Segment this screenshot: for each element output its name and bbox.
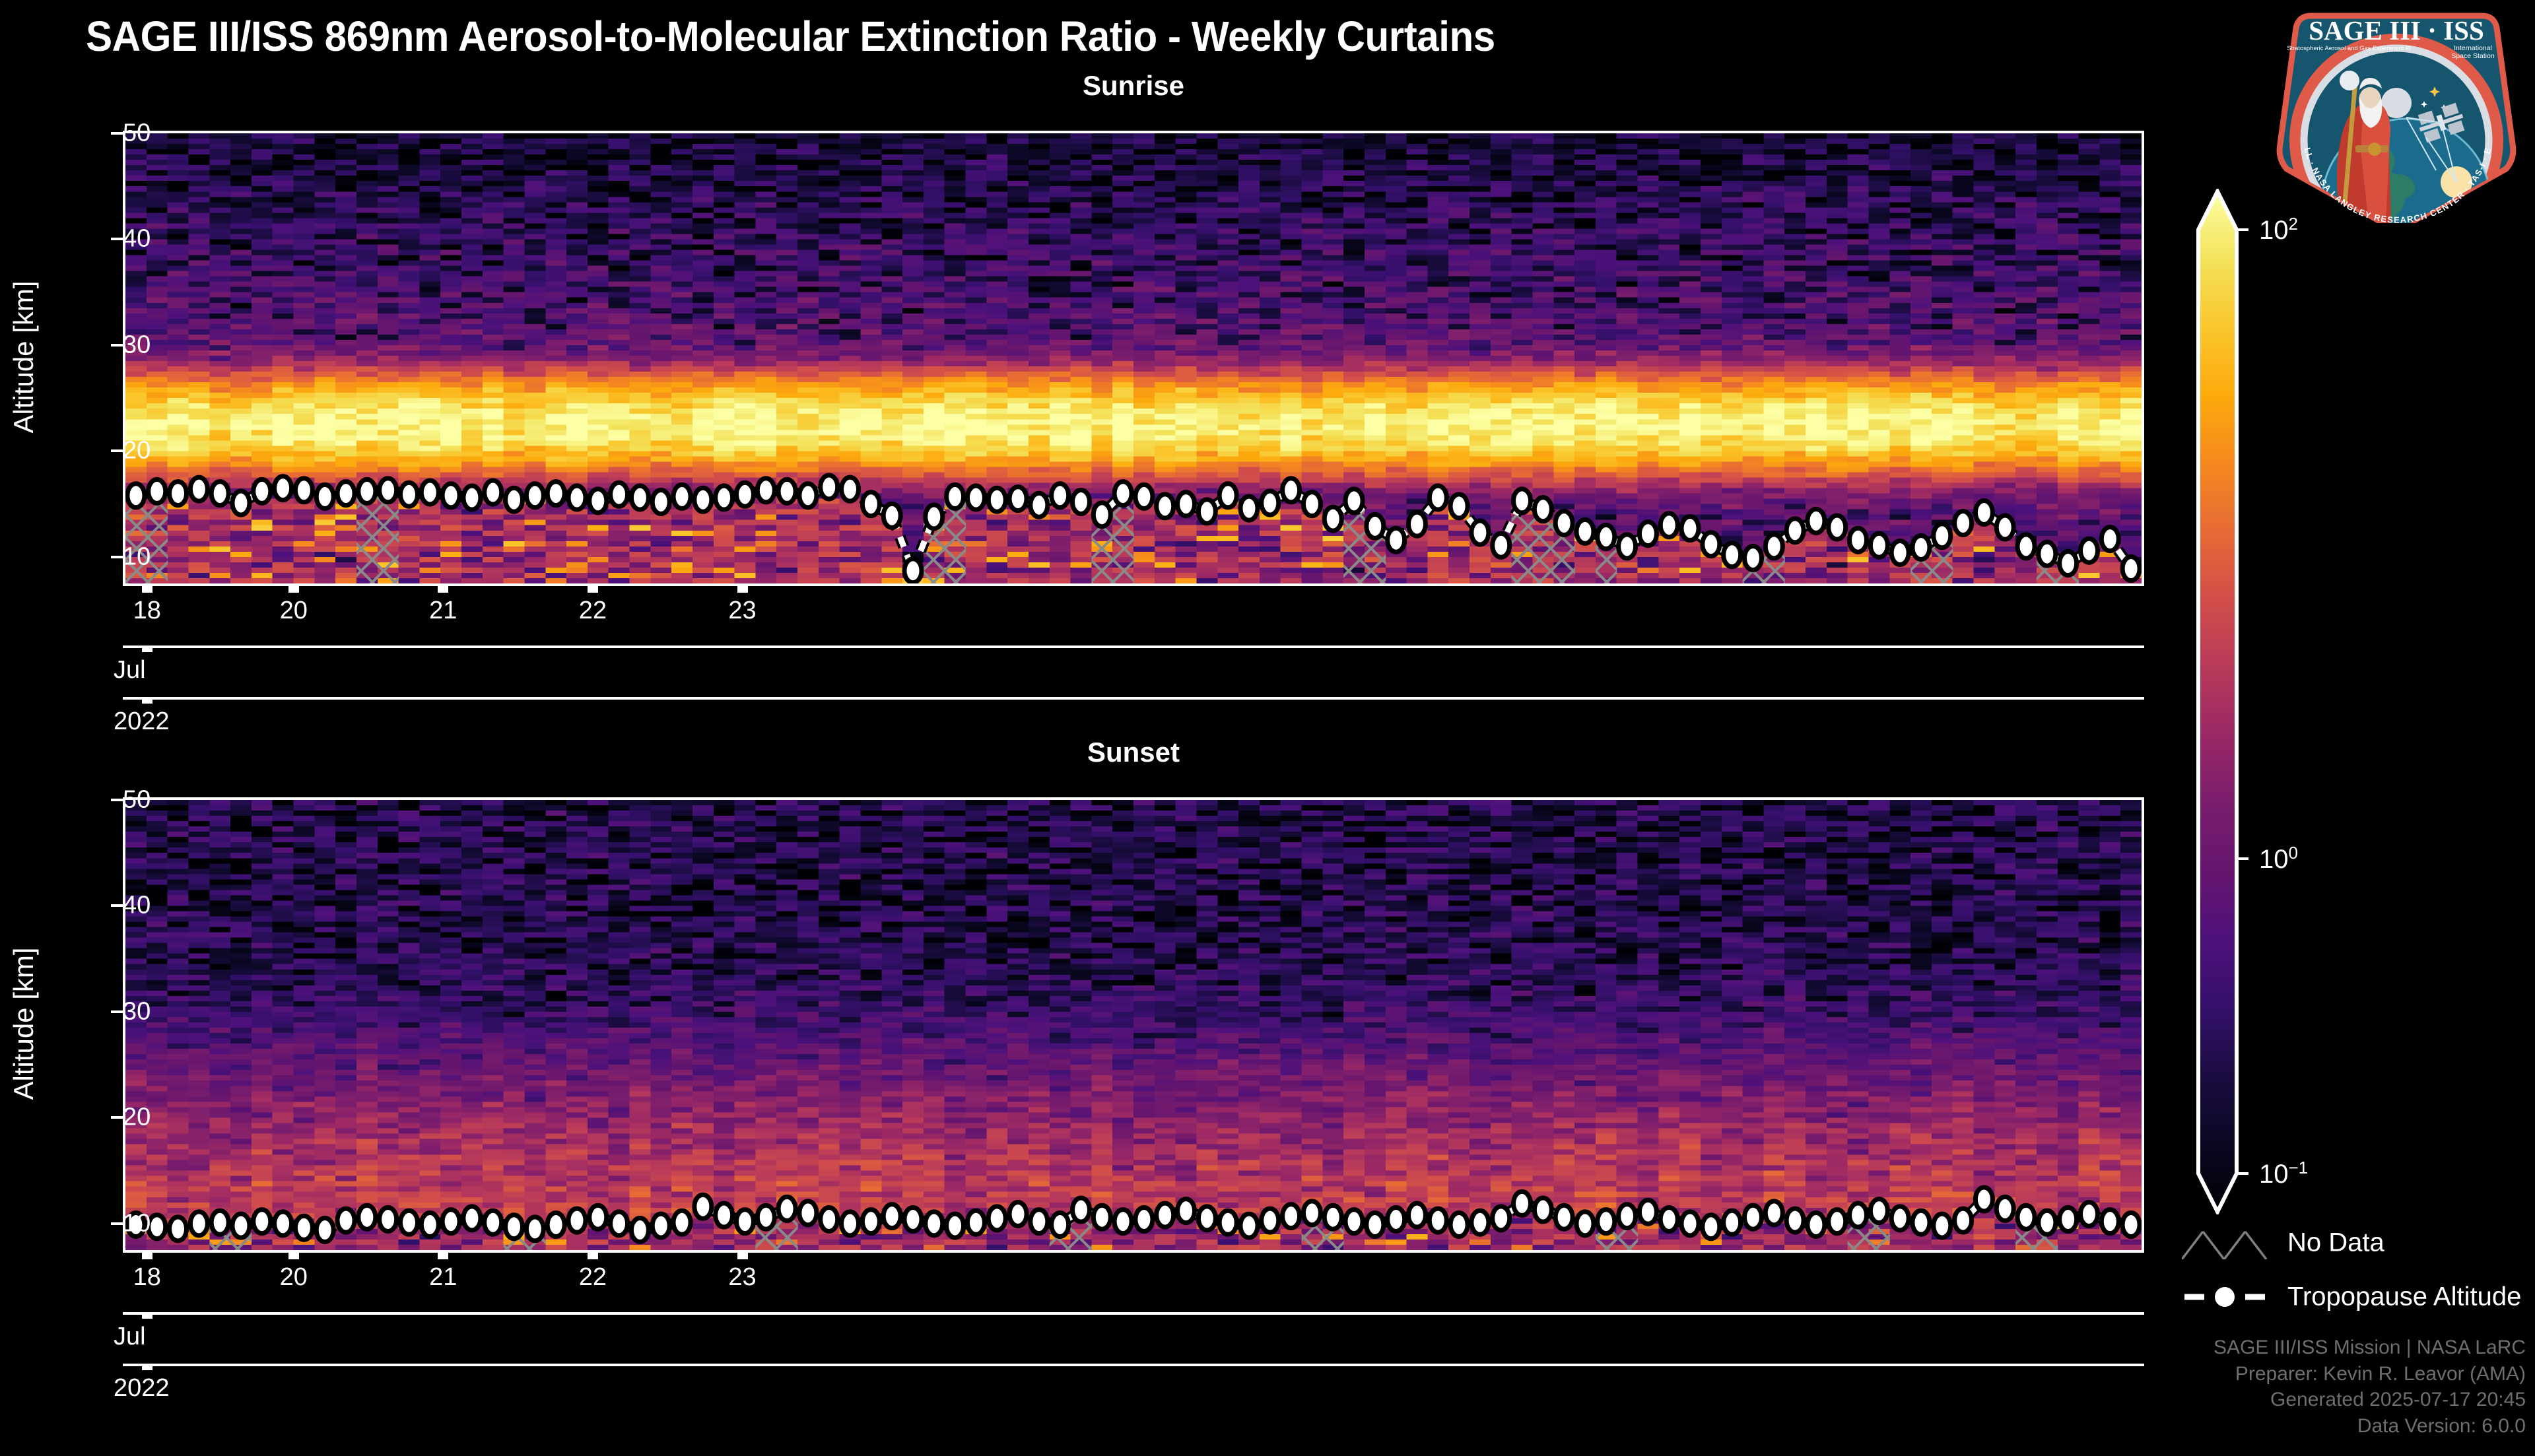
x-level-label: 2022	[114, 1374, 170, 1403]
tropopause-marker	[400, 482, 417, 506]
panel-sunrise: Sunrise1020304050Altitude [km]1820212223…	[0, 70, 2535, 789]
tropopause-marker	[1408, 512, 1425, 536]
tropopause-marker	[358, 1205, 376, 1229]
tropopause-marker	[1198, 500, 1215, 523]
x-axis-level-rule	[123, 697, 2144, 700]
tropopause-marker	[1660, 1207, 1677, 1231]
tropopause-marker	[1934, 1214, 1951, 1238]
tropopause-marker	[1429, 1208, 1446, 1232]
y-axis-label-sunrise: Altitude [km]	[8, 238, 40, 476]
colorbar-tick-label: 10−1	[2259, 1158, 2308, 1189]
legend-label-no-data: No Data	[2287, 1228, 2384, 1258]
tropopause-marker	[2017, 535, 2035, 558]
y-tick-label: 20	[123, 437, 140, 465]
tropopause-marker	[1093, 503, 1110, 527]
x-tick-mark	[142, 586, 152, 593]
tropopause-marker	[1178, 1199, 1195, 1223]
tropopause-marker	[316, 1218, 333, 1242]
tropopause-marker	[1135, 484, 1153, 508]
tropopause-marker	[1660, 513, 1677, 537]
x-tick-label: 22	[579, 1263, 607, 1292]
overlay-sunrise	[125, 133, 2142, 583]
tropopause-marker	[1198, 1207, 1215, 1230]
colorbar-tick-label: 100	[2259, 843, 2298, 875]
tropopause-marker	[190, 477, 207, 501]
tropopause-marker	[1157, 494, 1174, 518]
tropopause-marker	[926, 1212, 943, 1236]
tropopause-marker	[821, 1207, 838, 1231]
tropopause-marker	[1534, 498, 1551, 521]
legend-swatch-no-data	[2182, 1226, 2268, 1259]
tropopause-marker	[1786, 1208, 1804, 1232]
x-tick-mark	[438, 1253, 448, 1259]
tropopause-marker	[1703, 533, 1720, 556]
tropopause-marker	[673, 1210, 691, 1234]
tropopause-marker	[778, 479, 795, 503]
page-title: SAGE III/ISS 869nm Aerosol-to-Molecular …	[86, 12, 1495, 61]
tropopause-marker	[1765, 535, 1782, 558]
tropopause-marker	[253, 479, 271, 503]
tropopause-marker	[1912, 1210, 1930, 1234]
tropopause-marker	[275, 477, 292, 500]
tropopause-marker	[2080, 1202, 2097, 1226]
y-tick-mark	[111, 449, 123, 452]
svg-text:Space Station: Space Station	[2451, 52, 2495, 60]
y-tick-label: 10	[123, 1209, 140, 1238]
tropopause-marker	[421, 1212, 438, 1236]
tropopause-marker	[1031, 1210, 1048, 1234]
tropopause-marker	[1493, 1207, 1510, 1230]
tropopause-marker	[988, 488, 1005, 512]
legend-item-no-data[interactable]: No Data	[2182, 1224, 2525, 1261]
sage-iii-iss-logo: BALL · NASA LANGLEY RESEARCH CENTER · TA…	[2264, 5, 2528, 223]
tropopause-marker	[1114, 1210, 1132, 1234]
tropopause-marker	[400, 1210, 417, 1234]
tropopause-marker	[1283, 1205, 1300, 1228]
x-level-tick-mark	[142, 1364, 152, 1370]
tropopause-marker	[1598, 1210, 1615, 1234]
tropopause-marker	[611, 1212, 628, 1236]
tropopause-marker	[652, 1214, 669, 1238]
x-level-label: 2022	[114, 708, 170, 736]
tropopause-marker	[316, 484, 333, 508]
tropopause-marker	[1850, 1203, 1867, 1227]
svg-text:SAGE III · ISS: SAGE III · ISS	[2309, 15, 2484, 46]
y-tick-mark	[111, 1116, 123, 1119]
tropopause-marker	[1598, 525, 1615, 548]
tropopause-marker	[1388, 528, 1405, 552]
tropopause-marker	[1283, 479, 1300, 502]
legend-item-tropopause[interactable]: Tropopause Altitude	[2182, 1278, 2525, 1315]
tropopause-marker	[2060, 1207, 2077, 1231]
tropopause-marker	[1534, 1198, 1551, 1222]
x-axis-level-rule	[123, 1312, 2144, 1315]
tropopause-marker	[2101, 1210, 2118, 1234]
tropopause-marker	[1009, 1202, 1027, 1226]
tropopause-marker	[1891, 541, 1909, 564]
tropopause-marker	[295, 1216, 312, 1240]
tropopause-marker	[1555, 512, 1572, 535]
y-tick-label: 20	[123, 1104, 140, 1132]
tropopause-marker	[1219, 1210, 1236, 1234]
tropopause-marker	[547, 1212, 564, 1236]
tropopause-marker	[1324, 1205, 1341, 1229]
tropopause-marker	[757, 479, 774, 502]
x-level-label: Jul	[114, 1323, 146, 1351]
tropopause-marker	[673, 484, 691, 508]
tropopause-marker	[2060, 552, 2077, 576]
x-tick-label: 20	[280, 1263, 308, 1292]
tropopause-marker	[149, 1215, 166, 1239]
colorbar: 10210010−1 Aerosol-To-Molecular Extincti…	[2198, 191, 2535, 1212]
tropopause-marker	[947, 484, 964, 508]
x-level-tick-mark	[142, 697, 152, 704]
legend-swatch-tropopause	[2182, 1280, 2268, 1313]
x-tick-label: 20	[280, 597, 308, 625]
tropopause-marker	[1724, 1210, 1741, 1234]
tropopause-marker	[904, 1207, 922, 1231]
tropopause-marker	[1850, 528, 1867, 552]
tropopause-marker	[1493, 533, 1510, 557]
x-tick-label: 18	[133, 597, 161, 625]
tropopause-marker	[842, 477, 859, 501]
tropopause-marker	[799, 484, 817, 508]
tropopause-marker	[652, 490, 669, 513]
svg-text:International: International	[2454, 44, 2492, 52]
x-tick-label: 23	[728, 597, 756, 625]
y-tick-mark	[111, 1222, 123, 1225]
tropopause-marker	[1135, 1207, 1153, 1231]
tropopause-marker	[442, 1210, 459, 1234]
tropopause-marker	[337, 1208, 355, 1232]
tropopause-marker	[1514, 489, 1531, 513]
y-tick-label: 40	[123, 225, 140, 253]
tropopause-marker	[1178, 492, 1195, 516]
legend-label-tropopause: Tropopause Altitude	[2287, 1282, 2521, 1312]
svg-text:Stratospheric Aerosol and Gas: Stratospheric Aerosol and Gas Experiment…	[2287, 44, 2411, 51]
tropopause-marker	[1471, 1210, 1489, 1234]
tropopause-marker	[1955, 1208, 1972, 1232]
tropopause-marker	[1975, 1187, 1992, 1211]
tropopause-marker	[2101, 527, 2118, 551]
tropopause-marker	[1934, 524, 1951, 548]
tropopause-marker	[1240, 1214, 1258, 1238]
tropopause-marker	[380, 1207, 397, 1231]
tropopause-marker	[988, 1207, 1005, 1230]
tropopause-marker	[1303, 492, 1320, 516]
colorbar-tick-mark	[2237, 228, 2248, 231]
tropopause-marker	[526, 484, 543, 508]
tropopause-marker	[1009, 487, 1027, 511]
y-tick-mark	[111, 132, 123, 135]
tropopause-marker	[1450, 494, 1468, 518]
tropopause-marker	[967, 1210, 984, 1234]
tropopause-marker	[1912, 535, 1930, 559]
tropopause-marker	[1157, 1203, 1174, 1227]
tropopause-marker	[506, 1215, 523, 1239]
y-tick-mark	[111, 344, 123, 347]
tropopause-marker	[590, 1205, 607, 1229]
tropopause-marker	[1262, 1208, 1279, 1232]
x-tick-mark	[588, 1253, 598, 1259]
tropopause-marker	[421, 480, 438, 504]
tropopause-marker	[862, 492, 879, 516]
tropopause-marker	[2080, 539, 2097, 562]
x-tick-mark	[142, 1253, 152, 1259]
tropopause-marker	[1471, 521, 1489, 545]
tropopause-marker	[1744, 546, 1761, 570]
tropopause-marker	[463, 1207, 481, 1230]
tropopause-marker	[883, 1205, 900, 1228]
panel-title-sunset: Sunset	[123, 737, 2144, 768]
tropopause-marker	[485, 1210, 502, 1234]
y-tick-label: 50	[123, 786, 140, 814]
tropopause-marker	[883, 504, 900, 527]
tropopause-marker	[1786, 519, 1804, 543]
colorbar-tick-mark	[2237, 1172, 2248, 1175]
tropopause-marker	[1052, 1212, 1069, 1236]
tropopause-marker	[380, 479, 397, 502]
tropopause-marker	[1262, 491, 1279, 515]
tropopause-marker	[149, 479, 166, 503]
x-tick-mark	[288, 586, 299, 593]
tropopause-marker	[1724, 543, 1741, 567]
tropopause-marker	[2122, 1212, 2140, 1236]
tropopause-marker	[1996, 515, 2013, 539]
y-tick-mark	[111, 799, 123, 801]
tropopause-marker	[337, 482, 355, 506]
x-tick-label: 21	[429, 1263, 457, 1292]
tropopause-marker	[2017, 1205, 2035, 1229]
colorbar-ticks: 10210010−1	[2198, 230, 2237, 1174]
tropopause-marker	[1555, 1205, 1572, 1229]
y-tick-label: 30	[123, 997, 140, 1026]
tropopause-marker	[862, 1210, 879, 1234]
overlay-sunset	[125, 800, 2142, 1250]
tropopause-marker	[1345, 489, 1363, 513]
tropopause-marker	[1114, 482, 1132, 506]
x-tick-mark	[737, 1253, 748, 1259]
y-tick-label: 40	[123, 892, 140, 920]
tropopause-marker	[967, 486, 984, 510]
tropopause-marker	[778, 1197, 795, 1220]
x-tick-mark	[288, 1253, 299, 1259]
x-tick-label: 22	[579, 597, 607, 625]
y-tick-mark	[111, 556, 123, 558]
tropopause-marker	[1031, 493, 1048, 517]
tropopause-marker	[1829, 515, 1846, 539]
tropopause-marker	[590, 489, 607, 513]
colorbar-tick-mark	[2237, 857, 2248, 860]
tropopause-marker	[170, 482, 187, 506]
tropopause-marker	[1072, 490, 1089, 513]
tropopause-marker	[799, 1201, 817, 1225]
y-tick-label: 30	[123, 331, 140, 359]
tropopause-marker	[1975, 500, 1992, 524]
tropopause-marker	[716, 486, 733, 510]
tropopause-marker	[1576, 1212, 1594, 1236]
plot-area-sunset[interactable]	[123, 797, 2144, 1253]
tropopause-marker	[170, 1217, 187, 1241]
tropopause-marker	[1429, 486, 1446, 510]
tropopause-marker	[211, 482, 228, 506]
panel-title-sunrise: Sunrise	[123, 70, 2144, 102]
y-axis-label-sunset: Altitude [km]	[8, 905, 40, 1142]
tropopause-marker	[736, 1210, 753, 1234]
tropopause-marker	[1996, 1197, 2013, 1220]
tropopause-marker	[1240, 496, 1258, 520]
x-tick-label: 23	[728, 1263, 756, 1292]
y-tick-mark	[111, 904, 123, 907]
tropopause-marker	[1345, 1210, 1363, 1234]
tropopause-marker	[295, 479, 312, 502]
tropopause-marker	[568, 1208, 586, 1232]
logo-graphic: BALL · NASA LANGLEY RESEARCH CENTER · TA…	[2264, 5, 2528, 223]
y-tick-label: 50	[123, 119, 140, 148]
tropopause-marker	[190, 1212, 207, 1236]
tropopause-marker	[821, 475, 838, 499]
tropopause-marker	[1324, 507, 1341, 531]
tropopause-marker	[1744, 1205, 1761, 1229]
y-tick-mark	[111, 1010, 123, 1013]
tropopause-marker	[211, 1210, 228, 1234]
tropopause-marker	[1681, 517, 1699, 541]
tropopause-marker	[1808, 509, 1825, 533]
tropopause-marker	[1367, 1212, 1384, 1236]
tropopause-marker	[1703, 1215, 1720, 1239]
tropopause-marker	[1639, 1200, 1656, 1224]
tropopause-marker	[1681, 1212, 1699, 1236]
tropopause-marker	[1093, 1205, 1110, 1229]
tropopause-marker	[275, 1212, 292, 1236]
x-axis-level-rule	[123, 645, 2144, 648]
tropopause-marker	[1072, 1198, 1089, 1222]
x-level-tick-mark	[142, 1312, 152, 1319]
tropopause-marker	[568, 486, 586, 510]
tropopause-marker	[253, 1210, 271, 1234]
tropopause-marker	[611, 482, 628, 506]
tropopause-marker	[736, 482, 753, 506]
tropopause-marker	[1450, 1212, 1468, 1236]
x-tick-label: 18	[133, 1263, 161, 1292]
footer-credits: SAGE III/ISS Mission | NASA LaRCPreparer…	[1734, 1335, 2526, 1439]
tropopause-marker	[1870, 533, 1887, 557]
footer-line: Preparer: Kevin R. Leavor (AMA)	[1734, 1361, 2526, 1387]
tropopause-marker	[547, 482, 564, 506]
tropopause-marker	[1219, 484, 1236, 508]
tropopause-marker	[904, 559, 922, 583]
tropopause-marker	[1870, 1199, 1887, 1223]
tropopause-marker	[757, 1205, 774, 1229]
tropopause-marker	[1514, 1191, 1531, 1215]
tropopause-marker	[1303, 1201, 1320, 1225]
tropopause-marker	[716, 1203, 733, 1227]
tropopause-marker	[1765, 1201, 1782, 1225]
tropopause-marker	[2122, 557, 2140, 581]
tropopause-marker	[2039, 1210, 2056, 1234]
tropopause-marker	[1408, 1203, 1425, 1227]
tropopause-marker	[1829, 1210, 1846, 1234]
tropopause-marker	[2039, 542, 2056, 566]
tropopause-marker	[694, 1195, 712, 1218]
tropopause-marker	[631, 486, 648, 510]
tropopause-marker	[232, 491, 250, 515]
tropopause-marker	[442, 484, 459, 508]
x-tick-mark	[438, 586, 448, 593]
tropopause-marker	[947, 1214, 964, 1238]
tropopause-marker	[358, 479, 376, 503]
tropopause-marker	[232, 1214, 250, 1238]
tropopause-marker	[1619, 535, 1636, 558]
footer-line: Generated 2025-07-17 20:45	[1734, 1387, 2526, 1413]
tropopause-marker	[506, 488, 523, 512]
x-level-tick-mark	[142, 645, 152, 652]
tropopause-marker	[1367, 514, 1384, 538]
x-level-label: Jul	[114, 656, 146, 684]
tropopause-marker	[127, 484, 145, 508]
tropopause-marker	[1619, 1205, 1636, 1228]
tropopause-marker	[1576, 519, 1594, 543]
y-tick-mark	[111, 238, 123, 240]
tropopause-marker	[1955, 512, 1972, 535]
tropopause-marker	[485, 480, 502, 504]
footer-line: Data Version: 6.0.0	[1734, 1413, 2526, 1439]
tropopause-marker	[463, 486, 481, 510]
tropopause-marker	[926, 505, 943, 529]
plot-area-sunrise[interactable]	[123, 131, 2144, 586]
tropopause-marker	[1388, 1207, 1405, 1231]
tropopause-marker	[1052, 484, 1069, 508]
tropopause-marker	[1891, 1207, 1909, 1230]
tropopause-marker	[1639, 522, 1656, 546]
legend: No DataTropopause Altitude	[2182, 1224, 2525, 1333]
tropopause-marker	[842, 1212, 859, 1236]
tropopause-marker	[526, 1217, 543, 1241]
x-tick-label: 21	[429, 597, 457, 625]
y-tick-label: 10	[123, 543, 140, 571]
x-tick-mark	[588, 586, 598, 593]
tropopause-marker	[694, 488, 712, 512]
tropopause-marker	[1808, 1212, 1825, 1236]
footer-line: SAGE III/ISS Mission | NASA LaRC	[1734, 1335, 2526, 1361]
tropopause-marker	[631, 1218, 648, 1242]
x-tick-mark	[737, 586, 748, 593]
